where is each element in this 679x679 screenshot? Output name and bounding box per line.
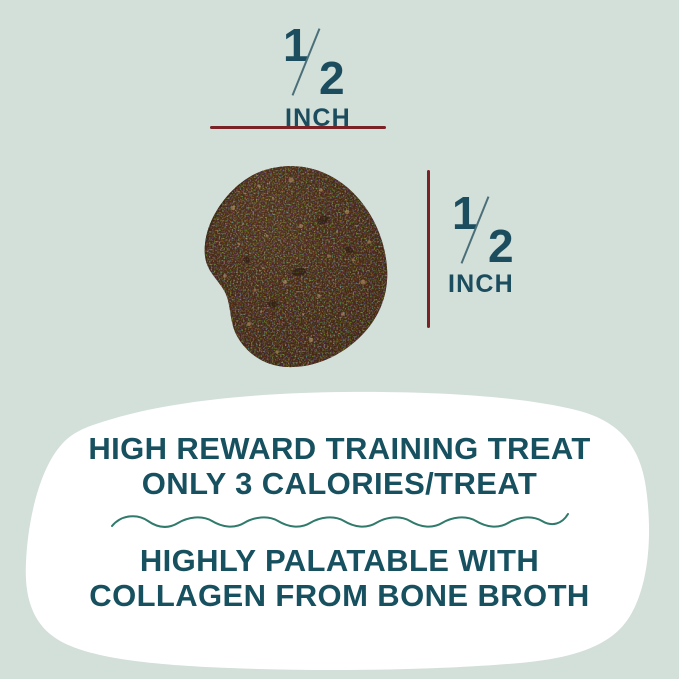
measurement-label-right: 1 2 INCH — [448, 190, 568, 297]
measurement-label-top: 1 2 INCH — [263, 22, 373, 131]
claim-line-2: ONLY 3 CALORIES/TREAT — [0, 467, 679, 502]
vertical-measure-rule — [427, 170, 430, 328]
claim-line-3: HIGHLY PALATABLE WITH — [0, 544, 679, 579]
wavy-divider-icon — [110, 510, 570, 532]
fraction-denominator-top: 2 — [319, 55, 344, 101]
horizontal-measure-rule — [210, 126, 386, 129]
measurement-unit-right: INCH — [448, 272, 568, 297]
fraction-one-half-top: 1 2 — [279, 22, 357, 100]
infographic-canvas: 1 2 INCH 1 2 INCH — [0, 0, 679, 679]
callout-text-group: HIGH REWARD TRAINING TREAT ONLY 3 CALORI… — [0, 432, 679, 614]
claim-block-2: HIGHLY PALATABLE WITH COLLAGEN FROM BONE… — [0, 544, 679, 613]
claim-line-4: COLLAGEN FROM BONE BROTH — [0, 579, 679, 614]
product-treat-image — [203, 164, 391, 371]
claim-line-1: HIGH REWARD TRAINING TREAT — [0, 432, 679, 467]
fraction-one-half-right: 1 2 — [448, 190, 526, 268]
fraction-denominator-right: 2 — [488, 223, 513, 269]
